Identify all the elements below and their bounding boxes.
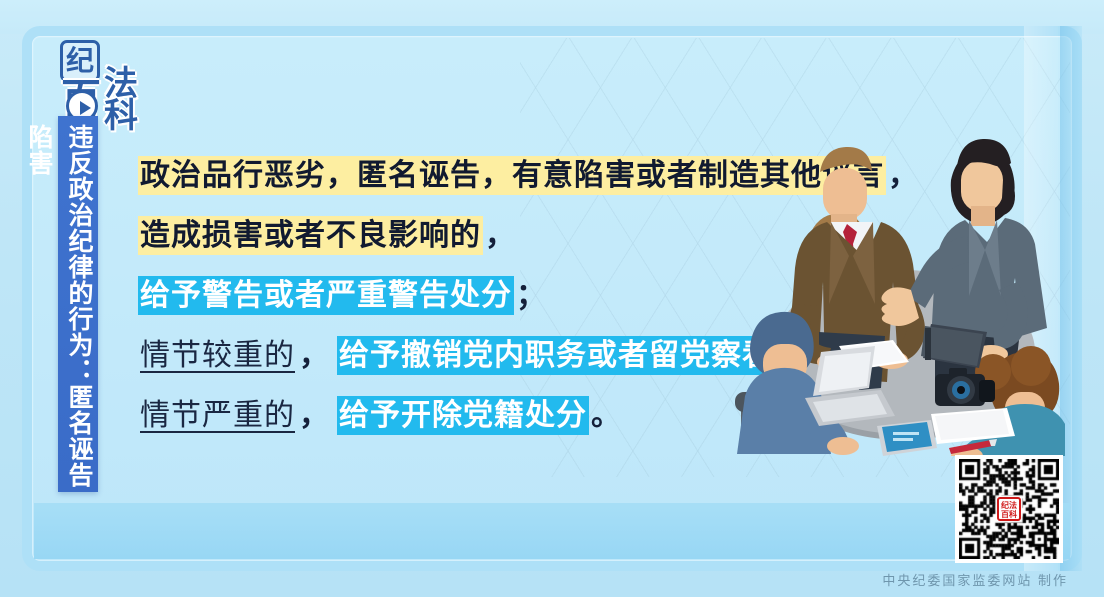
line-4-seg-0: 情节较重的 bbox=[138, 336, 297, 375]
line-4-seg-1: ， bbox=[297, 336, 331, 375]
qr-code[interactable]: 纪法百科 bbox=[955, 455, 1063, 563]
footer-credit: 中央纪委国家监委网站 制作 bbox=[882, 570, 1068, 589]
line-5-seg-1: ， bbox=[297, 396, 331, 435]
regulation-text-block: 政治品行恶劣，匿名诬告，有意陷害或者制造其他谣言，造成损害或者不良影响的，给予警… bbox=[138, 146, 838, 446]
line-5-seg-0: 情节严重的 bbox=[138, 396, 297, 435]
line-4: 情节较重的， 给予撤销党内职务或者留党察看处分； bbox=[138, 326, 838, 386]
line-2-seg-1: ， bbox=[483, 216, 517, 255]
line-5: 情节严重的， 给予开除党籍处分。 bbox=[138, 386, 838, 446]
line-3-seg-0: 给予警告或者严重警告处分 bbox=[138, 276, 514, 315]
logo-char-ke: 科 bbox=[104, 88, 138, 137]
qr-center-logo: 纪法百科 bbox=[997, 497, 1021, 521]
poster-root: 纪 百 法 科 违反政治纪律的行为：匿名诬告陷害 政治品行恶劣，匿名诬告，有意陷… bbox=[0, 0, 1104, 597]
line-3: 给予警告或者严重警告处分； bbox=[138, 266, 838, 326]
meeting-illustration bbox=[735, 96, 1065, 456]
line-5-seg-4: 。 bbox=[589, 396, 623, 435]
line-5-seg-3: 给予开除党籍处分 bbox=[337, 396, 589, 435]
line-3-seg-1: ； bbox=[514, 276, 548, 315]
line-2: 造成损害或者不良影响的， bbox=[138, 206, 838, 266]
bottom-band bbox=[34, 503, 1070, 559]
vertical-title-banner: 违反政治纪律的行为：匿名诬告陷害 bbox=[58, 116, 98, 492]
brand-logo: 纪 百 法 科 bbox=[52, 40, 156, 128]
line-1: 政治品行恶劣，匿名诬告，有意陷害或者制造其他谣言， bbox=[138, 146, 838, 206]
line-2-seg-0: 造成损害或者不良影响的 bbox=[138, 216, 483, 255]
